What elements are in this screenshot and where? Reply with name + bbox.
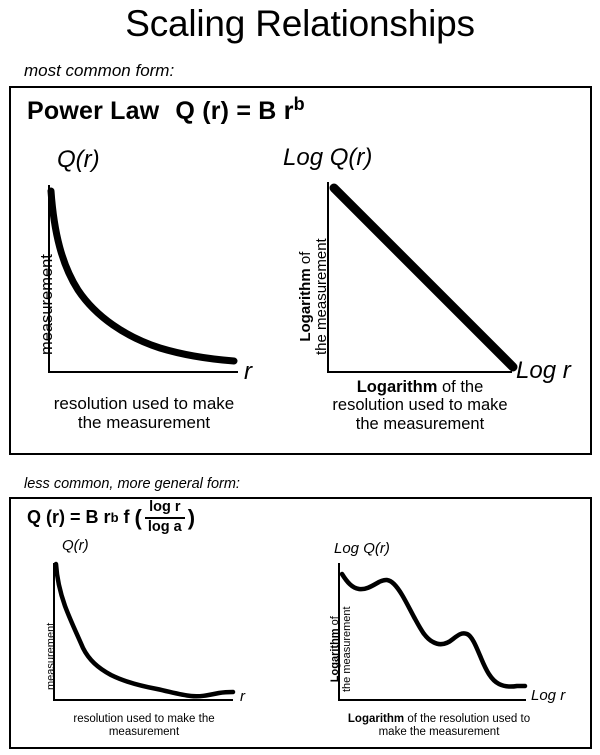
y-axis-title: Log Q(r) [334,540,390,557]
y-axis-title: Q(r) [57,146,100,174]
general-lhs: Q (r) = [27,507,81,528]
power-law-exponent: b [294,94,305,114]
chart-top-left-caption: resolution used to make the measurement [23,394,265,432]
fraction-numerator: log r [146,500,183,517]
x-axis-title: Log r [531,687,565,704]
x-axis-title: r [244,358,252,386]
bottom-section-caption: less common, more general form: [24,476,240,492]
paren-open: ( [135,505,142,531]
general-exponent: b [111,510,119,525]
y-axis-title: Q(r) [62,537,89,554]
top-section-caption: most common form: [24,61,174,81]
caption-line-1-rest: of the resolution used to [404,713,530,725]
fraction-denominator: log a [145,519,185,536]
power-law-coefficient: B [258,97,276,125]
power-law-lhs: Q (r) = [175,97,251,125]
caption-line-1: resolution used to make [23,394,265,413]
general-coefficient: B [86,507,99,528]
log-periodic-curve [339,562,529,702]
chart-top-right-caption: Logarithm of the resolution used to make… [300,378,540,433]
power-law-name: Power Law [27,97,159,125]
power-law-variable: r [284,97,294,125]
caption-bold: Logarithm [348,713,404,725]
general-variable: r [104,507,111,528]
general-form-curve [53,562,235,702]
caption-line-3: the measurement [300,415,540,433]
y-caption-line-2: the measurement [314,238,330,355]
caption-line-1: resolution used to make the [38,713,250,726]
caption-line-2: the measurement [23,413,265,432]
y-axis-title: Log Q(r) [283,144,372,172]
caption-bold: Logarithm [357,378,438,396]
chart-bottom-right-caption: Logarithm of the resolution used to make… [323,713,555,739]
paren-close: ) [188,505,195,531]
caption-line-2: make the measurement [323,726,555,739]
y-caption-bold: Logarithm [297,268,314,341]
general-function: f [124,507,130,528]
caption-line-2: measurement [38,726,250,739]
chart-bottom-left-caption: resolution used to make the measurement [38,713,250,739]
power-law-formula: Power LawQ (r) = B rb [27,94,305,126]
y-caption-rest: of [297,252,314,269]
log-log-line [329,182,519,374]
y-axis-caption: Logarithm of the measurement [298,238,330,355]
page-title: Scaling Relationships [0,2,600,46]
x-axis-title: r [240,688,245,705]
caption-line-1-rest: of the [437,378,483,396]
log-ratio-fraction: log rlog a [145,500,185,535]
power-law-curve [48,185,240,375]
caption-line-2: resolution used to make [300,396,540,414]
general-form-formula: Q (r) = B rb f (log rlog a) [27,500,195,535]
